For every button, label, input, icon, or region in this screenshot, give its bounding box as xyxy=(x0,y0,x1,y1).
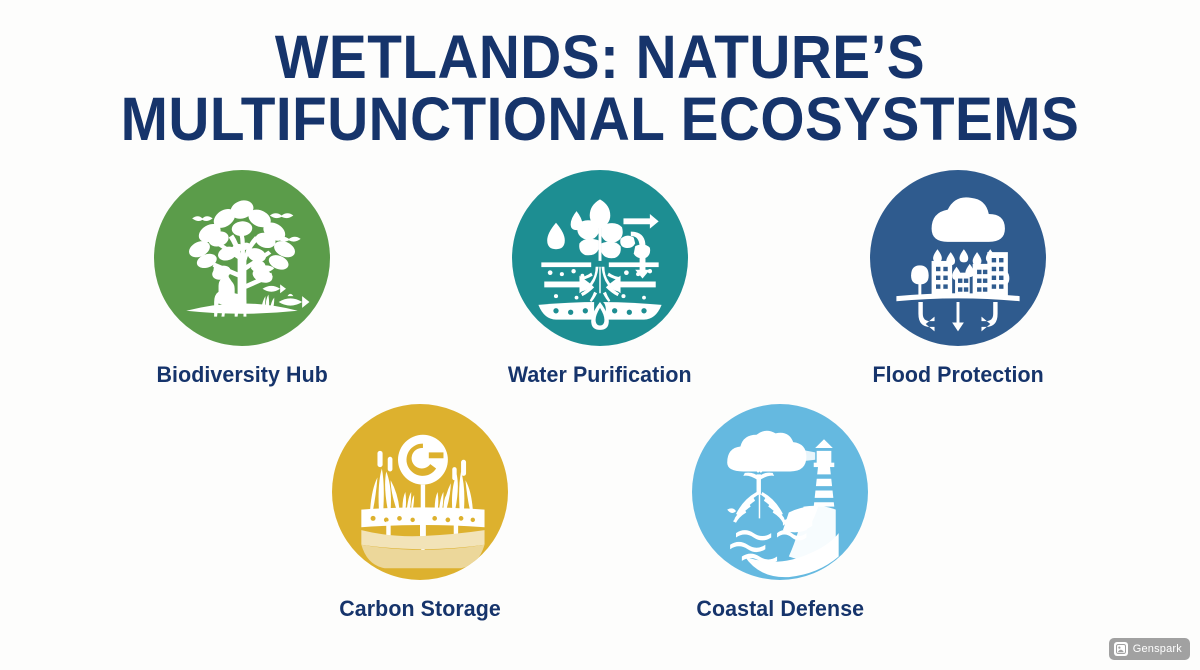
icon-circle-carbon-storage xyxy=(332,404,508,580)
card-label-coastal-defense: Coastal Defense xyxy=(696,596,864,622)
card-label-carbon-storage: Carbon Storage xyxy=(339,596,501,622)
plant-roots-filtration-icon xyxy=(512,170,688,346)
infographic-poster: WETLANDS: NATURE’S MULTIFUNCTIONAL ECOSY… xyxy=(0,0,1200,670)
card-water-purification[interactable]: Water Purification xyxy=(500,170,700,388)
genspark-watermark-label: Genspark xyxy=(1133,643,1182,655)
genspark-watermark: Genspark xyxy=(1109,638,1190,660)
card-row-bottom: Carbon Storage xyxy=(0,404,1200,622)
card-label-flood-protection: Flood Protection xyxy=(872,362,1043,388)
carbon-soil-reeds-icon xyxy=(332,404,508,580)
card-label-biodiversity-hub: Biodiversity Hub xyxy=(156,362,327,388)
card-flood-protection[interactable]: Flood Protection xyxy=(858,170,1058,388)
card-carbon-storage[interactable]: Carbon Storage xyxy=(320,404,520,622)
title-line-1: WETLANDS: NATURE’S xyxy=(42,26,1158,88)
icon-circle-coastal-defense xyxy=(692,404,868,580)
tree-wildlife-icon xyxy=(154,170,330,346)
genspark-logo-icon xyxy=(1114,642,1128,656)
genspark-glyph xyxy=(1116,644,1126,654)
title-line-2: MULTIFUNCTIONAL ECOSYSTEMS xyxy=(42,88,1158,150)
rain-cloud-city-drainage-icon xyxy=(870,170,1046,346)
card-biodiversity-hub[interactable]: Biodiversity Hub xyxy=(142,170,342,388)
mangrove-lighthouse-icon xyxy=(692,404,868,580)
icon-circle-flood-protection xyxy=(870,170,1046,346)
card-row-top: Biodiversity Hub xyxy=(0,170,1200,388)
icon-circle-biodiversity xyxy=(154,170,330,346)
page-title: WETLANDS: NATURE’S MULTIFUNCTIONAL ECOSY… xyxy=(0,0,1200,150)
card-label-water-purification: Water Purification xyxy=(508,362,692,388)
icon-circle-water-purification xyxy=(512,170,688,346)
card-coastal-defense[interactable]: Coastal Defense xyxy=(680,404,880,622)
